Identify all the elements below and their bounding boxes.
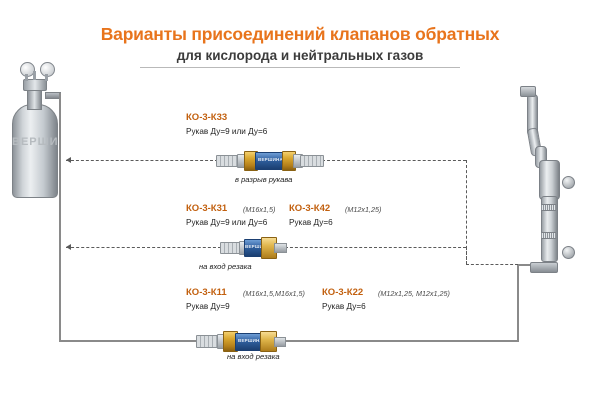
row2-code-1: КО-3-К31 (186, 203, 227, 214)
cylinder-label: ВЕРШИ (12, 136, 56, 148)
row2-dash-down (466, 247, 467, 265)
torch-inlet (530, 262, 558, 273)
row2-hose-1: Рукав Ду=9 или Ду=6 (186, 218, 267, 227)
k33-hose-barb-right (300, 155, 324, 167)
row2-arrow (66, 244, 71, 250)
row3-note: на вход резака (227, 352, 280, 361)
row1-hose: Рукав Ду=9 или Ду=6 (186, 127, 267, 136)
supply-line-bottom (59, 340, 519, 342)
row1-arrow (66, 157, 71, 163)
row1-dash-left (66, 160, 218, 161)
row2-note: на вход резака (199, 262, 252, 271)
title-divider (140, 67, 460, 68)
row3-code-1: КО-3-К11 (186, 287, 227, 298)
cylinder-body (12, 104, 58, 198)
row1-code: КО-3-К33 (186, 112, 227, 123)
diagram-canvas: Варианты присоединений клапанов обратных… (0, 0, 600, 400)
gauge-stem-left (25, 74, 28, 81)
row3-hose-1: Рукав Ду=9 (186, 302, 230, 311)
row2-dash-left (66, 247, 221, 248)
row1-dash-to-torch (466, 264, 518, 265)
gauge-stem-right (45, 74, 48, 81)
row2-code-2: КО-3-К42 (289, 203, 330, 214)
supply-line-vertical (59, 93, 61, 342)
row2-thread-2: (М12х1,25) (345, 205, 381, 214)
row3-code-2: КО-3-К22 (322, 287, 363, 298)
row3-thread-2: (М12х1,25, М12х1,25) (378, 289, 450, 298)
k33-valve-body-label: ВЕРШИНА (258, 157, 283, 162)
row2-dash-right (285, 247, 466, 248)
torch-knurl-2 (541, 232, 556, 239)
row3-hose-2: Рукав Ду=6 (322, 302, 366, 311)
cylinder-neck (27, 88, 42, 110)
page-title: Варианты присоединений клапанов обратных (0, 24, 600, 45)
row2-hose-2: Рукав Ду=6 (289, 218, 333, 227)
k42-outlet-stub (274, 243, 287, 253)
torch-oxygen-knob (562, 176, 575, 189)
row2-thread-1: (М16х1,5) (243, 205, 275, 214)
row1-note: в разрыв рукава (235, 175, 292, 184)
page-subtitle: для кислорода и нейтральных газов (0, 48, 600, 63)
torch-fuel-knob (562, 246, 575, 259)
torch-knurl-1 (541, 204, 556, 211)
row3-thread-1: (М16х1,5,М16х1,5) (243, 289, 305, 298)
row1-dash-right (322, 160, 466, 161)
torch-mixer-body (539, 160, 560, 200)
torch-tip (520, 86, 536, 97)
regulator-stem (33, 71, 36, 80)
k22-outlet-stub (274, 337, 286, 347)
supply-line-right-vertical (517, 266, 519, 342)
